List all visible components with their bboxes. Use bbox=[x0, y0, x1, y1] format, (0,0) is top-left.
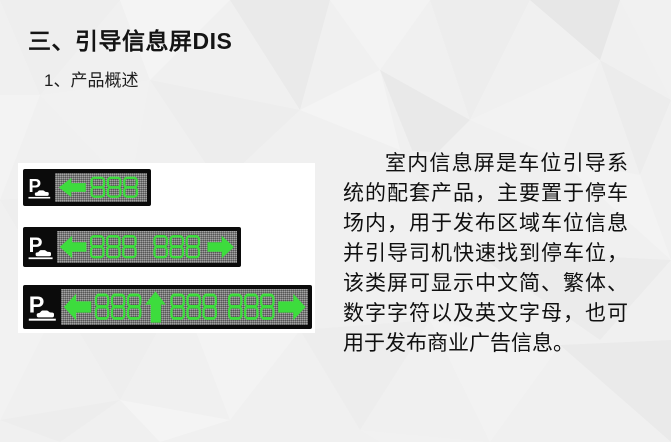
parking-p-car-icon: P bbox=[27, 231, 54, 263]
product-overview-paragraph: 室内信息屏是车位引导系统的配套产品，主要置于停车场内，用于发布区域车位信息并引导… bbox=[343, 148, 628, 358]
digits-888-glyph-a bbox=[91, 236, 135, 257]
sign-3-row: P bbox=[23, 285, 312, 329]
arrow-left-glyph bbox=[58, 178, 85, 197]
parking-p-car-icon: P bbox=[27, 289, 58, 325]
parking-p-car-icon: P bbox=[27, 173, 52, 202]
arrow-right-glyph bbox=[208, 236, 234, 258]
digits-888-glyph-a bbox=[96, 295, 140, 318]
slide-canvas: 三、引导信息屏DIS 1、产品概述 P bbox=[0, 0, 671, 442]
led-matrix-area-3 bbox=[61, 289, 308, 325]
sign-1-row: P bbox=[23, 169, 151, 206]
digits-888-glyph-b bbox=[155, 236, 199, 257]
page-subtitle: 1、产品概述 bbox=[44, 66, 138, 91]
sign-illustration-panel: P bbox=[18, 163, 315, 333]
arrow-up-glyph bbox=[145, 291, 166, 322]
digits-888-glyph-b bbox=[171, 295, 215, 318]
arrow-left-glyph bbox=[63, 294, 90, 320]
page-title: 三、引导信息屏DIS bbox=[28, 22, 232, 56]
led-matrix-area-1 bbox=[55, 173, 147, 202]
arrow-right-glyph bbox=[278, 294, 305, 320]
led-matrix-area-2 bbox=[57, 231, 237, 263]
digits-888-glyph bbox=[91, 178, 136, 197]
arrow-left-glyph bbox=[60, 236, 86, 258]
digits-888-glyph-c bbox=[229, 295, 273, 318]
sign-2-row: P bbox=[23, 227, 241, 267]
